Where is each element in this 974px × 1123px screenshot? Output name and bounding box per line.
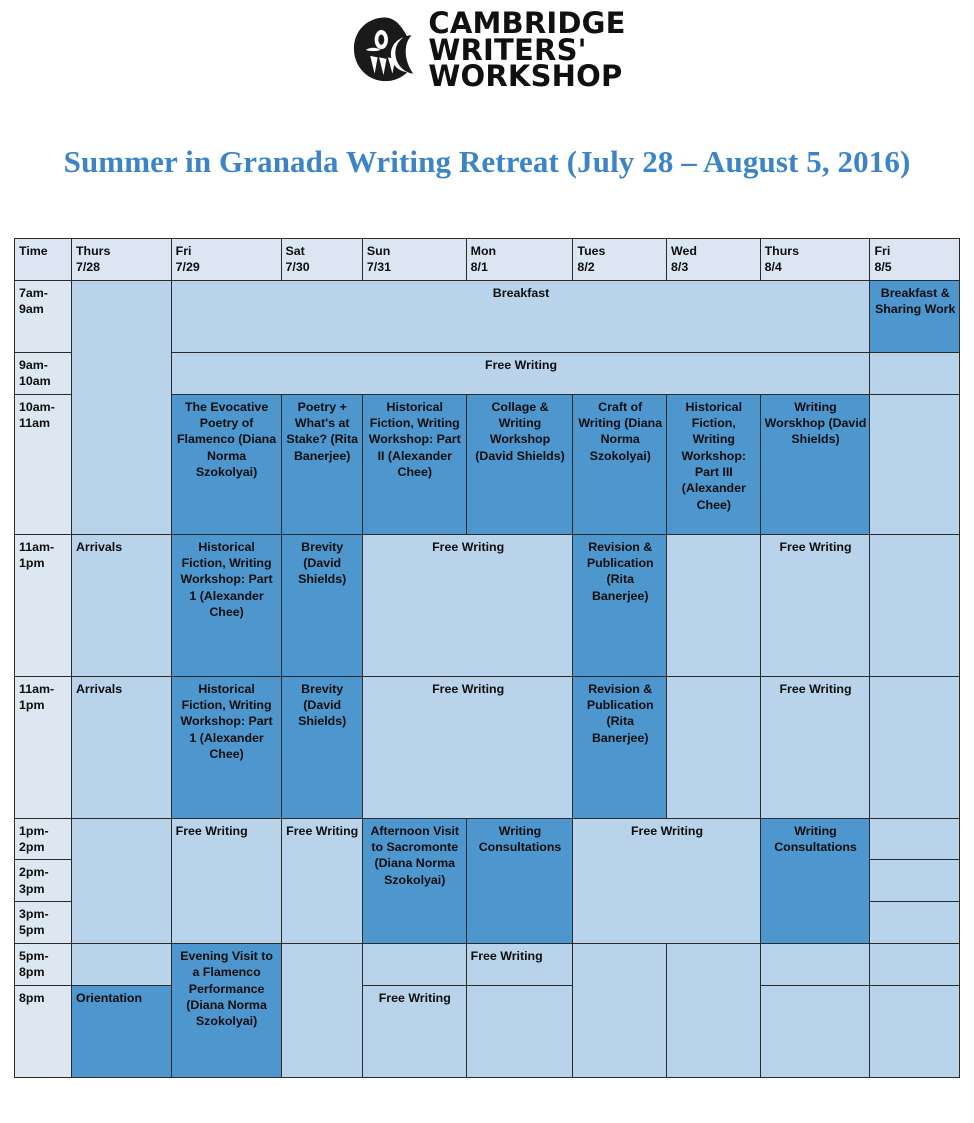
cell-fri805-11am-empty-b <box>870 676 960 818</box>
cell-mon801-8pm-empty <box>466 985 573 1077</box>
cell-mon801-collage-workshop: Collage & Writing Workshop (David Shield… <box>466 394 573 534</box>
cell-thurs804-8pm-empty <box>760 985 870 1077</box>
cell-sun731-histfic-part2: Historical Fiction, Writing Workshop: Pa… <box>362 394 466 534</box>
header-cell-tues-802: Tues 8/2 <box>573 239 667 281</box>
logo-lockup: CAMBRIDGE WRITERS' WORKSHOP <box>348 10 625 91</box>
time-label-2pm-3pm: 2pm- 3pm <box>15 860 72 902</box>
header-cell-thurs-804: Thurs 8/4 <box>760 239 870 281</box>
cell-mon801-free-writing-5pm: Free Writing <box>466 943 573 985</box>
cell-thurs728-arrivals-b: Arrivals <box>71 676 171 818</box>
cell-tues802-revision-b: Revision & Publication (Rita Banerjee) <box>573 676 667 818</box>
cell-fri729-histfic-part1-a: Historical Fiction, Writing Workshop: Pa… <box>171 534 281 676</box>
header-cell-sat-730: Sat 7/30 <box>281 239 362 281</box>
cell-mon801-writing-consultations: Writing Consultations <box>466 818 573 943</box>
cell-fri805-3pm-empty <box>870 902 960 944</box>
time-label-1pm-2pm: 1pm- 2pm <box>15 818 72 860</box>
cell-wed803-histfic-part3: Historical Fiction, Writing Workshop: Pa… <box>667 394 761 534</box>
header-cell-fri-729: Fri 7/29 <box>171 239 281 281</box>
cell-breakfast: Breakfast <box>171 280 870 352</box>
cell-fri805-10am-empty <box>870 394 960 534</box>
cell-wed803-11am-empty-a <box>667 534 761 676</box>
header-cell-time: Time <box>15 239 72 281</box>
time-label-5pm-8pm: 5pm- 8pm <box>15 943 72 985</box>
header-cell-mon-801: Mon 8/1 <box>466 239 573 281</box>
cell-wed803-11am-empty-b <box>667 676 761 818</box>
cell-fri729-evening-flamenco: Evening Visit to a Flamenco Performance … <box>171 943 281 1077</box>
cell-tues802-evening-empty <box>573 943 667 1077</box>
table-row-1pm-2pm: 1pm- 2pm Free Writing Free Writing After… <box>15 818 960 860</box>
cell-fri805-1pm-empty <box>870 818 960 860</box>
cell-fri805-8pm-empty <box>870 985 960 1077</box>
cell-fri805-2pm-empty <box>870 860 960 902</box>
table-row-11am-1pm-a: 11am- 1pm Arrivals Historical Fiction, W… <box>15 534 960 676</box>
cell-thurs728-arrivals-a: Arrivals <box>71 534 171 676</box>
cell-sun731-sacromonte: Afternoon Visit to Sacromonte (Diana Nor… <box>362 818 466 943</box>
cell-wed803-evening-empty <box>667 943 761 1077</box>
cell-sat730-free-writing-pm: Free Writing <box>281 818 362 943</box>
cell-sat730-evening-empty <box>281 943 362 1077</box>
header-cell-wed-803: Wed 8/3 <box>667 239 761 281</box>
cell-breakfast-sharing-work: Breakfast & Sharing Work <box>870 280 960 352</box>
page-title: Summer in Granada Writing Retreat (July … <box>0 144 974 180</box>
cell-thurs728-afternoon-empty <box>71 818 171 943</box>
cell-thurs728-5pm-empty <box>71 943 171 985</box>
table-row-7am-9am: 7am- 9am Breakfast Breakfast & Sharing W… <box>15 280 960 352</box>
header-cell-fri-805: Fri 8/5 <box>870 239 960 281</box>
time-label-9am-10am: 9am- 10am <box>15 352 72 394</box>
time-label-11am-1pm-a: 11am- 1pm <box>15 534 72 676</box>
cell-sat730-brevity-a: Brevity (David Shields) <box>281 534 362 676</box>
cell-thurs804-free-writing-b: Free Writing <box>760 676 870 818</box>
cell-fri729-histfic-part1-b: Historical Fiction, Writing Workshop: Pa… <box>171 676 281 818</box>
cell-sat730-brevity-b: Brevity (David Shields) <box>281 676 362 818</box>
cell-free-writing-afternoon: Free Writing <box>573 818 760 943</box>
cell-thurs804-writing-consultations: Writing Consultations <box>760 818 870 943</box>
logo-header: CAMBRIDGE WRITERS' WORKSHOP <box>0 0 974 92</box>
cell-fri805-5pm-empty <box>870 943 960 985</box>
table-row-5pm-8pm: 5pm- 8pm Evening Visit to a Flamenco Per… <box>15 943 960 985</box>
cell-thurs804-writing-worskhop: Writing Worskhop (David Shields) <box>760 394 870 534</box>
cell-thurs728-orientation: Orientation <box>71 985 171 1077</box>
time-label-11am-1pm-b: 11am- 1pm <box>15 676 72 818</box>
cell-fri729-free-writing-pm: Free Writing <box>171 818 281 943</box>
logo-wordmark: CAMBRIDGE WRITERS' WORKSHOP <box>428 10 625 91</box>
time-label-7am-9am: 7am- 9am <box>15 280 72 352</box>
retreat-schedule-table: Time Thurs 7/28 Fri 7/29 Sat 7/30 Sun 7/… <box>14 238 960 1078</box>
cell-fri805-11am-empty-a <box>870 534 960 676</box>
cell-thurs804-free-writing-a: Free Writing <box>760 534 870 676</box>
cell-sat730-poetry-stake: Poetry + What's at Stake? (Rita Banerjee… <box>281 394 362 534</box>
owl-logo-icon <box>348 13 422 87</box>
cell-tues802-revision-a: Revision & Publication (Rita Banerjee) <box>573 534 667 676</box>
cell-thurs804-5pm-empty <box>760 943 870 985</box>
cell-fri805-9am-empty <box>870 352 960 394</box>
table-row-8pm: 8pm Orientation Free Writing <box>15 985 960 1077</box>
table-header-row: Time Thurs 7/28 Fri 7/29 Sat 7/30 Sun 7/… <box>15 239 960 281</box>
cell-fri729-evocative-poetry: The Evocative Poetry of Flamenco (Diana … <box>171 394 281 534</box>
time-label-8pm: 8pm <box>15 985 72 1077</box>
header-cell-sun-731: Sun 7/31 <box>362 239 466 281</box>
header-cell-thurs-728: Thurs 7/28 <box>71 239 171 281</box>
cell-sun731-free-writing-8pm: Free Writing <box>362 985 466 1077</box>
time-label-3pm-5pm: 3pm- 5pm <box>15 902 72 944</box>
cell-thurs728-morning-empty <box>71 280 171 534</box>
time-label-10am-11am: 10am- 11am <box>15 394 72 534</box>
cell-free-writing-9am: Free Writing <box>171 352 870 394</box>
schedule-container: Time Thurs 7/28 Fri 7/29 Sat 7/30 Sun 7/… <box>14 238 960 1078</box>
cell-sun731-5pm-empty <box>362 943 466 985</box>
cell-free-writing-11am-a: Free Writing <box>362 534 573 676</box>
table-row-11am-1pm-b: 11am- 1pm Arrivals Historical Fiction, W… <box>15 676 960 818</box>
logo-line-3: WORKSHOP <box>428 63 625 90</box>
cell-tues802-craft-of-writing: Craft of Writing (Diana Norma Szokolyai) <box>573 394 667 534</box>
cell-free-writing-11am-b: Free Writing <box>362 676 573 818</box>
